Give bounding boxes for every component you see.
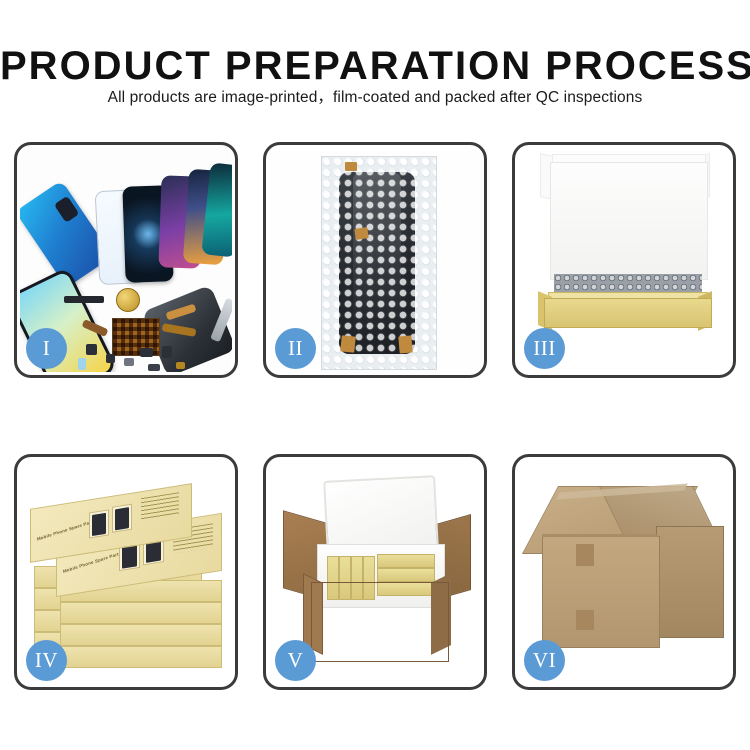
packed-box-item [377,554,435,568]
bubble-wrap-overlay [321,156,435,368]
box-front-panel [544,298,712,328]
process-step-5[interactable]: V [263,454,487,690]
process-step-grid: I II [14,142,736,690]
retail-box-slab [60,646,222,668]
box-label-text: Mobile Phone Spare Parts [37,518,96,541]
carton-side-face [656,526,724,638]
retail-box-slab [60,602,222,624]
small-part-icon [176,362,185,369]
step-badge-1: I [26,328,67,369]
carton-edge-seam [542,534,658,537]
step-badge-6: VI [524,640,565,681]
packed-box-item [377,568,435,582]
process-step-3[interactable]: III [512,142,736,378]
retail-box-slab [60,624,222,646]
small-part-icon [86,344,97,355]
carton-body [311,582,449,662]
step-badge-3: III [524,328,565,369]
speaker-coil-icon [116,288,140,312]
step-badge-2: II [275,328,316,369]
page-subtitle: All products are image-printed，film-coat… [0,90,750,106]
foam-cooler-lid [323,475,439,555]
product-preparation-infographic: PRODUCT PREPARATION PROCESS All products… [0,0,750,750]
carton-tab-lower [576,610,594,630]
step-badge-5: V [275,640,316,681]
small-part-icon [124,358,134,366]
tape-icon [354,227,368,240]
carton-front-face [542,536,660,648]
process-step-6[interactable]: VI [512,454,736,690]
tape-icon [345,162,357,171]
small-part-icon [78,358,86,370]
foam-backing [550,162,708,280]
tape-icon [340,335,356,352]
box-spec-lines [141,492,179,520]
process-step-2[interactable]: II [263,142,487,378]
adhesive-strip-icon [64,296,104,303]
small-part-icon [140,348,153,357]
small-part-icon [148,364,160,371]
process-step-1[interactable]: I [14,142,238,378]
box-phone-thumbnail [89,509,109,538]
box-phone-thumbnail [112,504,132,533]
page-title: PRODUCT PREPARATION PROCESS [0,46,750,86]
small-part-icon [162,346,172,358]
process-step-4[interactable]: Mobile Phone Spare Parts Mobile Phone Sp… [14,454,238,690]
small-part-icon [106,354,115,363]
step-badge-4: IV [26,640,67,681]
tape-icon [398,335,412,353]
carton-tab-upper [576,544,594,566]
